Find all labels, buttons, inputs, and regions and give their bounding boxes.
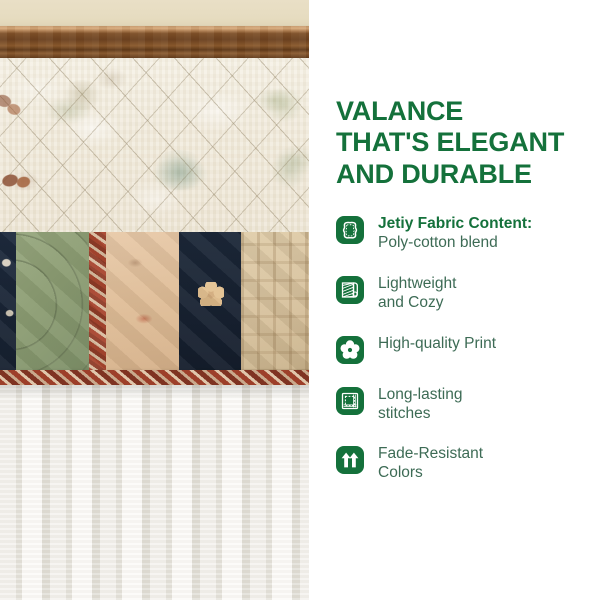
feature-strong-label: Jetiy Fabric Content [378,215,527,232]
feature-main-label: Lightweight [378,275,456,292]
patch-navy-blossom [179,232,241,372]
marketing-panel: VALANCE THAT'S ELEGANT AND DURABLE Jetiy… [311,0,600,600]
floral-sprig [60,80,104,110]
stitched-square-icon [336,387,364,415]
patch-rust-strip [89,232,106,372]
fan-quilting-lines [16,232,89,372]
patch-sage-green [16,232,89,372]
feature-item-fade-resistant: Fade-Resistant Colors [336,444,596,483]
feature-sub-label: stitches [378,405,462,424]
rolled-blanket-icon [336,276,364,304]
feature-label-lightweight: Lightweight and Cozy [378,274,456,313]
floral-sprig [150,150,208,190]
feature-list: Jetiy Fabric Content: Poly-cotton blend … [336,214,596,504]
feature-item-stitches: Long-lasting stitches [336,385,596,424]
feature-sub-label: Poly-cotton blend [378,234,532,253]
double-up-arrow-icon [336,446,364,474]
feature-main-label: Long-lasting [378,386,462,403]
sheer-curtain-panels [0,385,311,600]
wooden-cornice-rod [0,26,311,60]
rust-floral-binding [0,370,311,385]
feature-main-label: Fade-Resistant [378,445,483,462]
product-photo [0,0,311,600]
patchwork-block-band [0,232,311,372]
feature-item-fabric-content: Jetiy Fabric Content: Poly-cotton blend [336,214,596,253]
flower-icon [336,336,364,364]
feature-sub-label: and Cozy [378,294,456,313]
floral-sprig [268,154,310,188]
floral-sprig [262,88,306,122]
headline-line-1: VALANCE [336,96,591,127]
feature-label-fabric-content: Jetiy Fabric Content: Poly-cotton blend [378,214,532,253]
patch-peach-floral [106,232,179,372]
feature-label-print-quality: High-quality Print [378,334,496,354]
headline-line-2: THAT'S ELEGANT [336,127,591,158]
feature-item-lightweight: Lightweight and Cozy [336,274,596,313]
fabric-swatch-icon [336,216,364,244]
tan-blossom-motif [198,282,224,306]
cream-quilted-floral-valance [0,58,311,234]
page-title: VALANCE THAT'S ELEGANT AND DURABLE [336,96,591,190]
feature-label-stitches: Long-lasting stitches [378,385,462,424]
feature-label-colon: : [527,215,532,232]
headline-line-3: AND DURABLE [336,159,591,190]
feature-sub-label: Colors [378,464,483,483]
diamond-quilting-stitches [0,58,311,234]
patch-navy-floral [0,232,16,372]
feature-item-print-quality: High-quality Print [336,334,596,364]
promo-canvas: VALANCE THAT'S ELEGANT AND DURABLE Jetiy… [0,0,600,600]
feature-label-fade-resistant: Fade-Resistant Colors [378,444,483,483]
patch-tan-plaid [241,232,311,372]
